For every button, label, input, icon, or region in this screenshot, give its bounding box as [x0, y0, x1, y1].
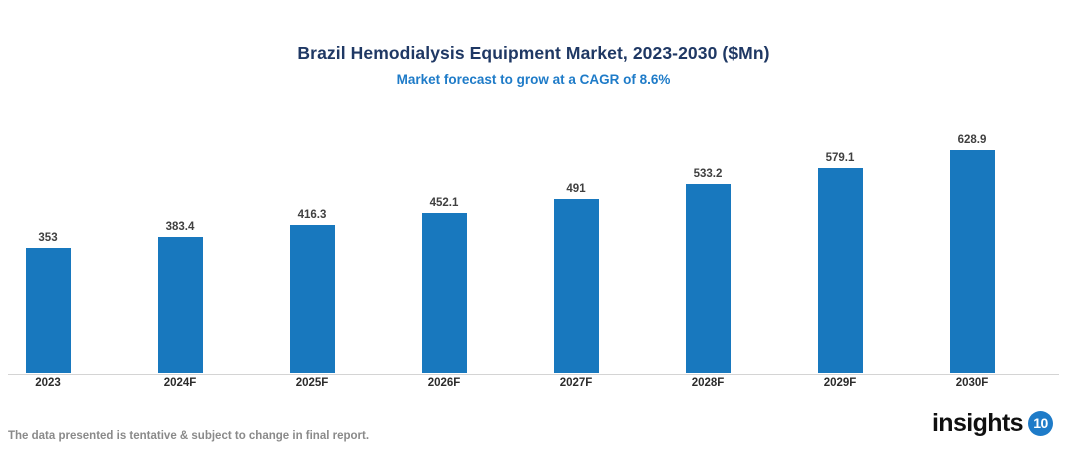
plot-area: 353383.4416.3452.1491533.2579.1628.9 [0, 110, 1067, 375]
bar-group: 353 [0, 109, 114, 373]
bar-item[interactable]: 491 [510, 109, 642, 373]
bar-rect[interactable] [686, 184, 731, 373]
bar-group: 628.9 [906, 109, 1038, 373]
bar-value-label: 579.1 [826, 152, 855, 165]
bar-item[interactable]: 533.2 [642, 109, 774, 373]
bar-group: 383.4 [114, 109, 246, 373]
bar-group: 416.3 [246, 109, 378, 373]
bar-series: 353383.4416.3452.1491533.2579.1628.9 [0, 110, 1067, 374]
x-axis-tick-label: 2025F [246, 376, 378, 391]
bar-value-label: 628.9 [958, 134, 987, 147]
bar-rect[interactable] [554, 199, 599, 373]
chart-canvas: Brazil Hemodialysis Equipment Market, 20… [0, 0, 1067, 454]
logo-wordmark: insights [932, 410, 1023, 437]
chart-title: Brazil Hemodialysis Equipment Market, 20… [0, 42, 1067, 64]
bar-value-label: 383.4 [166, 221, 195, 234]
logo-badge-icon: 10 [1028, 411, 1053, 436]
x-axis-tick-label: 2026F [378, 376, 510, 391]
bar-rect[interactable] [422, 213, 467, 373]
bar-group: 579.1 [774, 109, 906, 373]
bar-value-label: 353 [38, 232, 57, 245]
bar-group: 533.2 [642, 109, 774, 373]
bar-value-label: 452.1 [430, 197, 459, 210]
chart-header: Brazil Hemodialysis Equipment Market, 20… [0, 42, 1067, 88]
x-axis-tick-label: 2030F [906, 376, 1038, 391]
bar-item[interactable]: 628.9 [906, 109, 1038, 373]
bar-rect[interactable] [26, 248, 71, 373]
disclaimer-text: The data presented is tentative & subjec… [8, 429, 369, 444]
x-axis-tick-label: 2024F [114, 376, 246, 391]
bar-group: 452.1 [378, 109, 510, 373]
bar-rect[interactable] [818, 168, 863, 373]
bar-rect[interactable] [290, 225, 335, 373]
bar-item[interactable]: 416.3 [246, 109, 378, 373]
bar-value-label: 416.3 [298, 209, 327, 222]
bar-rect[interactable] [158, 237, 203, 373]
bar-value-label: 533.2 [694, 168, 723, 181]
insights10-logo: insights 10 [932, 407, 1053, 439]
bar-group: 491 [510, 109, 642, 373]
x-axis-tick-label: 2029F [774, 376, 906, 391]
bar-item[interactable]: 579.1 [774, 109, 906, 373]
bar-rect[interactable] [950, 150, 995, 373]
x-axis-tick-label: 2028F [642, 376, 774, 391]
x-axis-tick-label: 2027F [510, 376, 642, 391]
x-axis-tick-label: 2023 [0, 376, 114, 391]
x-axis-baseline [8, 374, 1059, 375]
bar-value-label: 491 [566, 183, 585, 196]
bar-item[interactable]: 383.4 [114, 109, 246, 373]
chart-subtitle: Market forecast to grow at a CAGR of 8.6… [0, 71, 1067, 88]
bar-item[interactable]: 353 [0, 109, 114, 373]
x-axis-tick-labels: 20232024F2025F2026F2027F2028F2029F2030F [0, 376, 1067, 394]
bar-item[interactable]: 452.1 [378, 109, 510, 373]
